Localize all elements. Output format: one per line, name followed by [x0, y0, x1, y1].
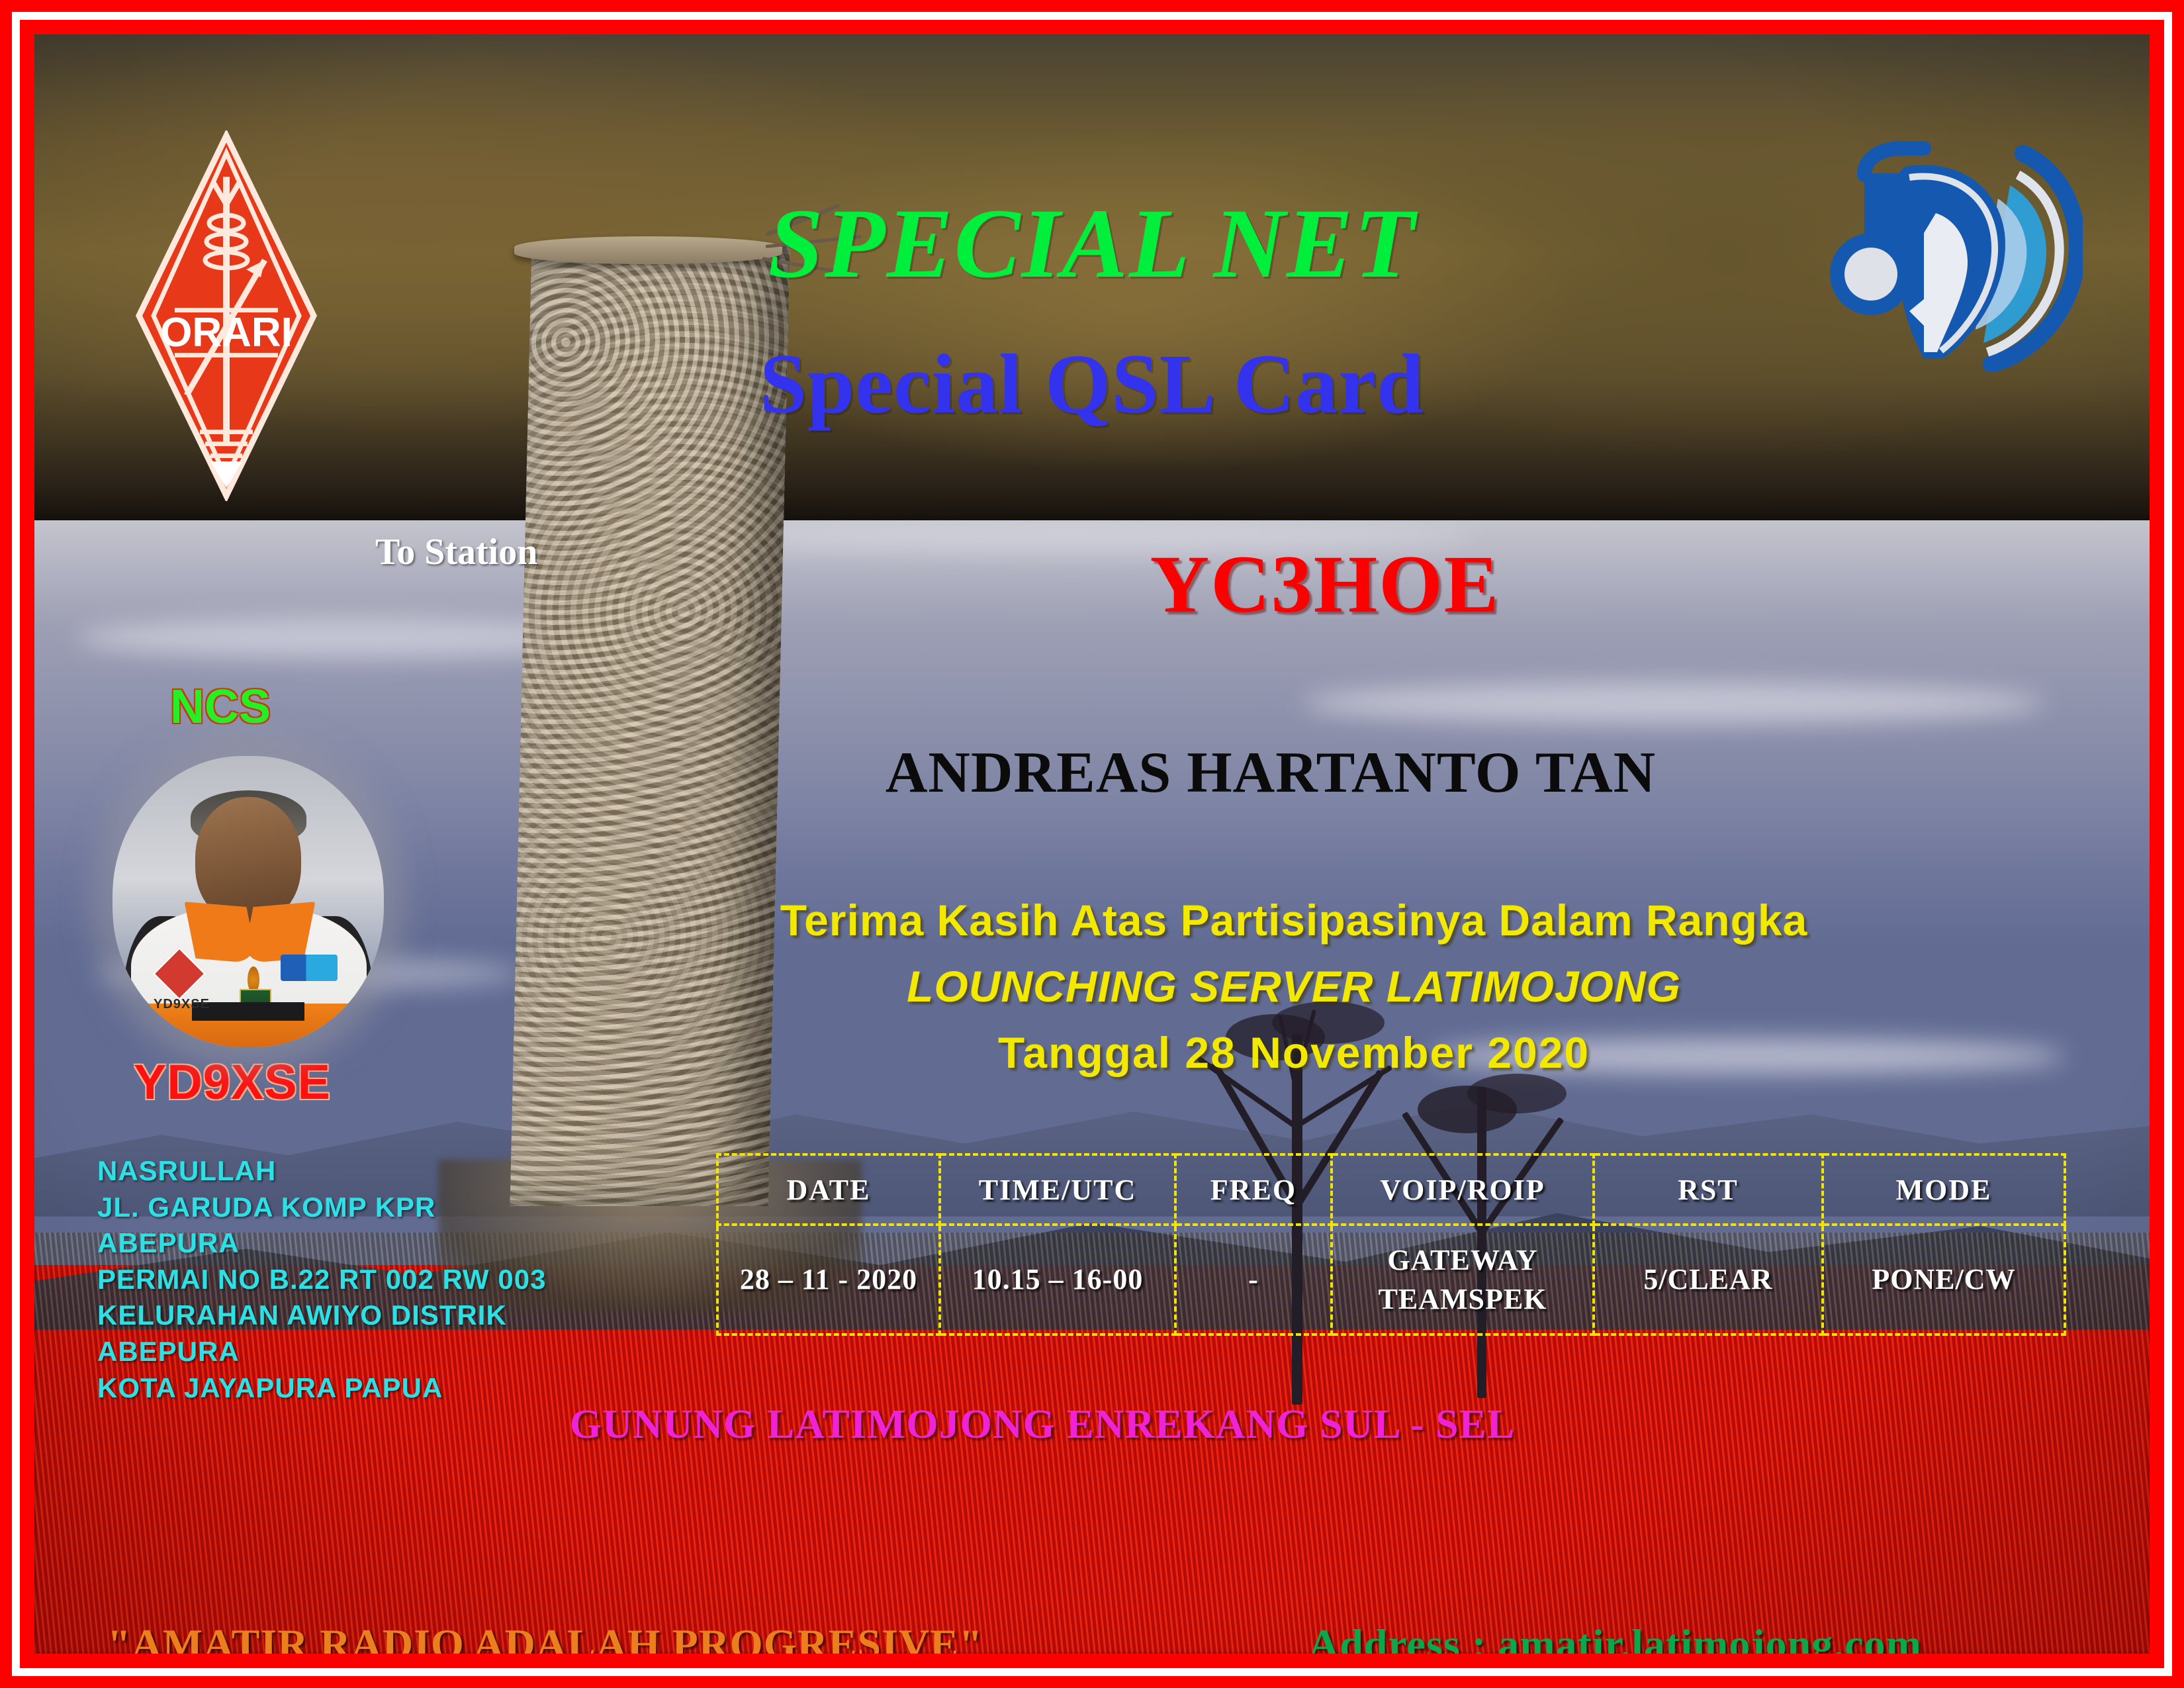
address-line: ABEPURA — [97, 1334, 546, 1370]
col-header-voip-roip: VOIP/ROIP — [1332, 1154, 1594, 1225]
col-header-date: DATE — [717, 1154, 940, 1225]
address-line: PERMAI NO B.22 RT 002 RW 003 — [97, 1262, 546, 1298]
address-line: JL. GARUDA KOMP KPR — [97, 1190, 546, 1226]
footer-web-address: Address : amatir.latimojong.com — [1308, 1620, 1922, 1654]
cell-voip-line-1: GATEWAY — [1334, 1241, 1592, 1280]
table-row: 28 – 11 - 2020 10.15 – 16-00 - GATEWAY T… — [717, 1225, 2065, 1335]
page-subtitle-special-qsl-card: Special QSL Card — [34, 336, 2150, 433]
table-header-row: DATE TIME/UTC FREQ VOIP/ROIP RST MODE — [717, 1154, 2065, 1225]
cell-voip-roip: GATEWAY TEAMSPEK — [1332, 1225, 1594, 1335]
col-header-freq: FREQ — [1175, 1154, 1332, 1225]
qsl-card-outer-border: ORARI SPECIAL NET Special QSL Card To St… — [0, 0, 2184, 1688]
portrait-chest-logo — [281, 955, 338, 981]
col-header-mode: MODE — [1823, 1154, 2065, 1225]
ncs-label: NCS — [170, 680, 271, 734]
station-callsign: YC3HOE — [267, 538, 2150, 632]
thanks-line-2: LOUNCHING SERVER LATIMOJONG — [236, 961, 2150, 1011]
ncs-postal-address: NASRULLAH JL. GARUDA KOMP KPR ABEPURA PE… — [97, 1153, 546, 1406]
operator-name: ANDREAS HARTANTO TAN — [213, 739, 2150, 806]
cell-mode: PONE/CW — [1823, 1225, 2065, 1335]
orari-logo: ORARI — [134, 130, 319, 501]
qsl-card-photo-canvas: ORARI SPECIAL NET Special QSL Card To St… — [34, 34, 2150, 1654]
address-line: ABEPURA — [97, 1225, 546, 1262]
address-line: KOTA JAYAPURA PAPUA — [97, 1370, 546, 1407]
location-caption: GUNUNG LATIMOJONG ENREKANG SUL - SEL — [34, 1401, 2100, 1448]
col-header-rst: RST — [1594, 1154, 1823, 1225]
cell-freq: - — [1175, 1225, 1332, 1335]
qsl-card-white-border: ORARI SPECIAL NET Special QSL Card To St… — [12, 12, 2172, 1676]
address-line: KELURAHAN AWIYO DISTRIK — [97, 1297, 546, 1334]
ncs-operator-photo: YD9XSE — [113, 756, 384, 1047]
footer-motto: "AMATIR RADIO ADALAH PROGRESIVE" — [107, 1620, 983, 1654]
thanks-line-1: Terima Kasih Atas Partisipasinya Dalam R… — [236, 895, 2150, 945]
qsl-card-inner-red-border: ORARI SPECIAL NET Special QSL Card To St… — [20, 20, 2164, 1668]
portrait-collar-left — [184, 902, 257, 964]
portrait-shirt-callsign: YD9XSE — [154, 997, 210, 1012]
address-line: NASRULLAH — [97, 1153, 546, 1190]
cell-rst: 5/CLEAR — [1594, 1225, 1823, 1335]
page-title-special-net: SPECIAL NET — [34, 187, 2150, 301]
ncs-callsign: YD9XSE — [134, 1054, 331, 1110]
cell-date: 28 – 11 - 2020 — [717, 1225, 940, 1335]
cell-time: 10.15 – 16-00 — [940, 1225, 1175, 1335]
cell-voip-line-2: TEAMSPEK — [1334, 1280, 1592, 1319]
thanks-line-3: Tanggal 28 November 2020 — [236, 1027, 2150, 1078]
col-header-time: TIME/UTC — [940, 1154, 1175, 1225]
qso-log-table: DATE TIME/UTC FREQ VOIP/ROIP RST MODE 28… — [716, 1153, 2066, 1336]
